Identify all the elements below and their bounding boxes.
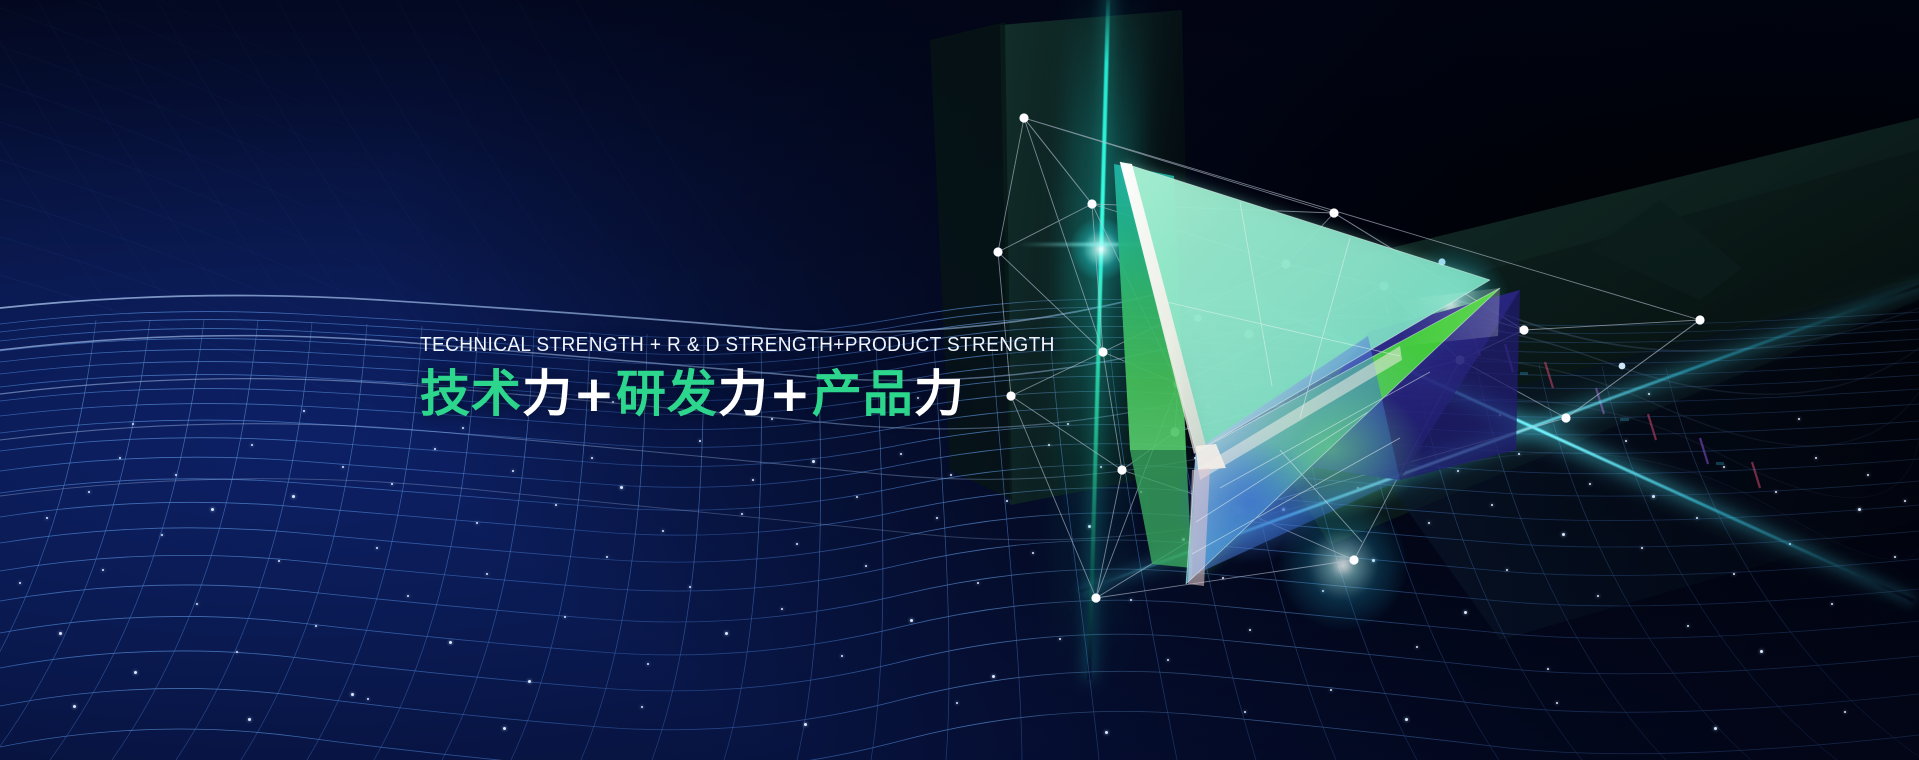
headline-seg-1: 力 [522, 365, 573, 423]
headline-seg-5: + [769, 365, 812, 423]
headline-seg-6: 产品 [812, 365, 914, 423]
headline-seg-4: 力 [718, 365, 769, 423]
headline-chinese: 技术力+研发力+产品力 [420, 368, 1100, 421]
eyebrow-english-tagline: TECHNICAL STRENGTH + R & D STRENGTH+PROD… [420, 334, 1052, 357]
headline-seg-3: 研发 [616, 365, 718, 423]
headline-seg-0: 技术 [420, 365, 522, 423]
headline-text-block: TECHNICAL STRENGTH + R & D STRENGTH+PROD… [420, 334, 1100, 421]
headline-seg-2: + [573, 365, 616, 423]
background-top-shade [0, 0, 1919, 300]
hero-banner: TECHNICAL STRENGTH + R & D STRENGTH+PROD… [0, 0, 1919, 760]
headline-seg-7: 力 [914, 365, 965, 423]
